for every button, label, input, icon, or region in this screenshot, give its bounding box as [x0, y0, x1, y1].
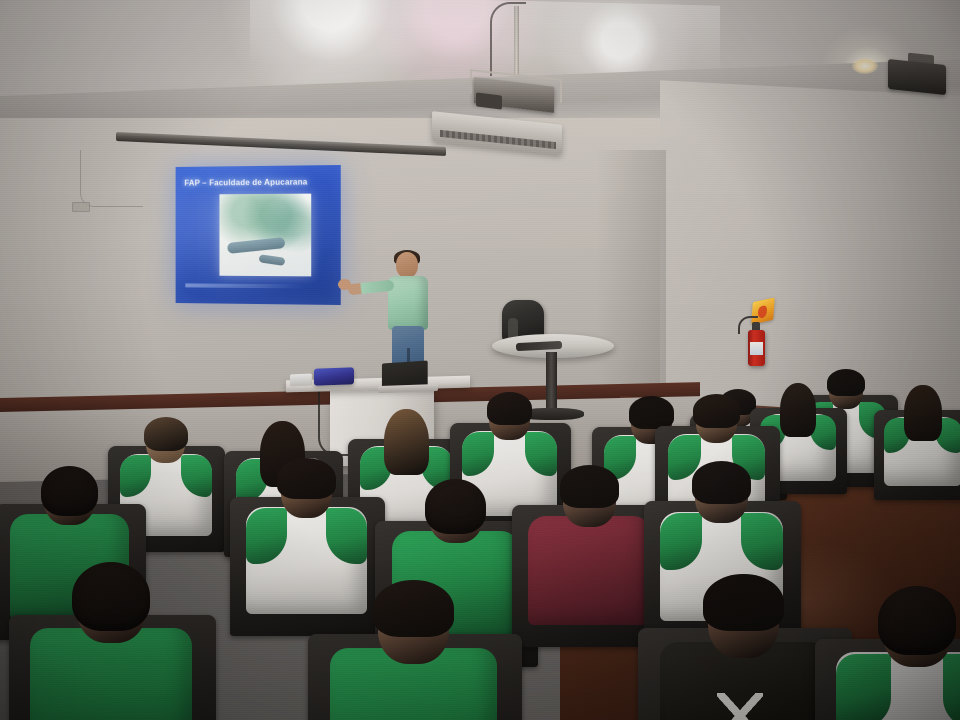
- slide-photo: [219, 194, 311, 277]
- presenter-head: [396, 252, 418, 278]
- audience-member: [836, 592, 960, 720]
- audience-member: [30, 568, 192, 720]
- audience-hair: [904, 385, 941, 441]
- wall-cable: [80, 150, 143, 207]
- projection-screen: FAP – Faculdade de Apucarana: [176, 165, 341, 305]
- presenter-hand: [338, 279, 351, 290]
- lecture-hall-photo: FAP – Faculdade de Apucarana: [0, 0, 960, 720]
- slide-photo-object-2: [259, 254, 286, 266]
- audience-hair: [425, 479, 486, 533]
- audience-hair: [144, 417, 188, 451]
- audience-member: [884, 388, 960, 493]
- audience-hair: [373, 580, 454, 637]
- audience-hair: [693, 394, 740, 427]
- audience-hair: [560, 465, 619, 507]
- slide-title: FAP – Faculdade de Apucarana: [184, 177, 333, 187]
- ceiling-camera: [888, 59, 946, 95]
- uniform-shoulder-panel: [943, 654, 960, 720]
- audience-hair: [277, 458, 335, 499]
- presenter-shirt: [388, 276, 428, 330]
- uniform-shoulder-panel: [836, 654, 891, 720]
- wall-outlet: [72, 202, 90, 212]
- shirt-x-graphic: [717, 693, 764, 720]
- ceiling-recess: [250, 0, 720, 76]
- slide-photo-object-1: [227, 237, 285, 254]
- projector-mount-pole: [514, 6, 519, 76]
- audience-torso: [528, 516, 651, 625]
- audience-hair: [41, 466, 98, 517]
- audience-hair: [780, 383, 816, 437]
- audience-hair: [384, 409, 429, 476]
- ceiling-light: [852, 58, 878, 74]
- projector-cable: [490, 2, 526, 76]
- audience-hair: [72, 562, 150, 631]
- audience-hair: [878, 586, 956, 655]
- audience-hair: [703, 574, 784, 631]
- fire-extinguisher-label: [750, 342, 763, 355]
- podium-small-device: [290, 374, 312, 387]
- audience-hair: [487, 392, 533, 425]
- audience-hair: [692, 461, 751, 503]
- projector: [470, 68, 556, 110]
- audience-member: [330, 586, 497, 720]
- audience-member: [528, 470, 651, 636]
- audience-member: [660, 580, 827, 720]
- blue-device: [314, 367, 354, 385]
- projector-lens-icon: [476, 92, 502, 109]
